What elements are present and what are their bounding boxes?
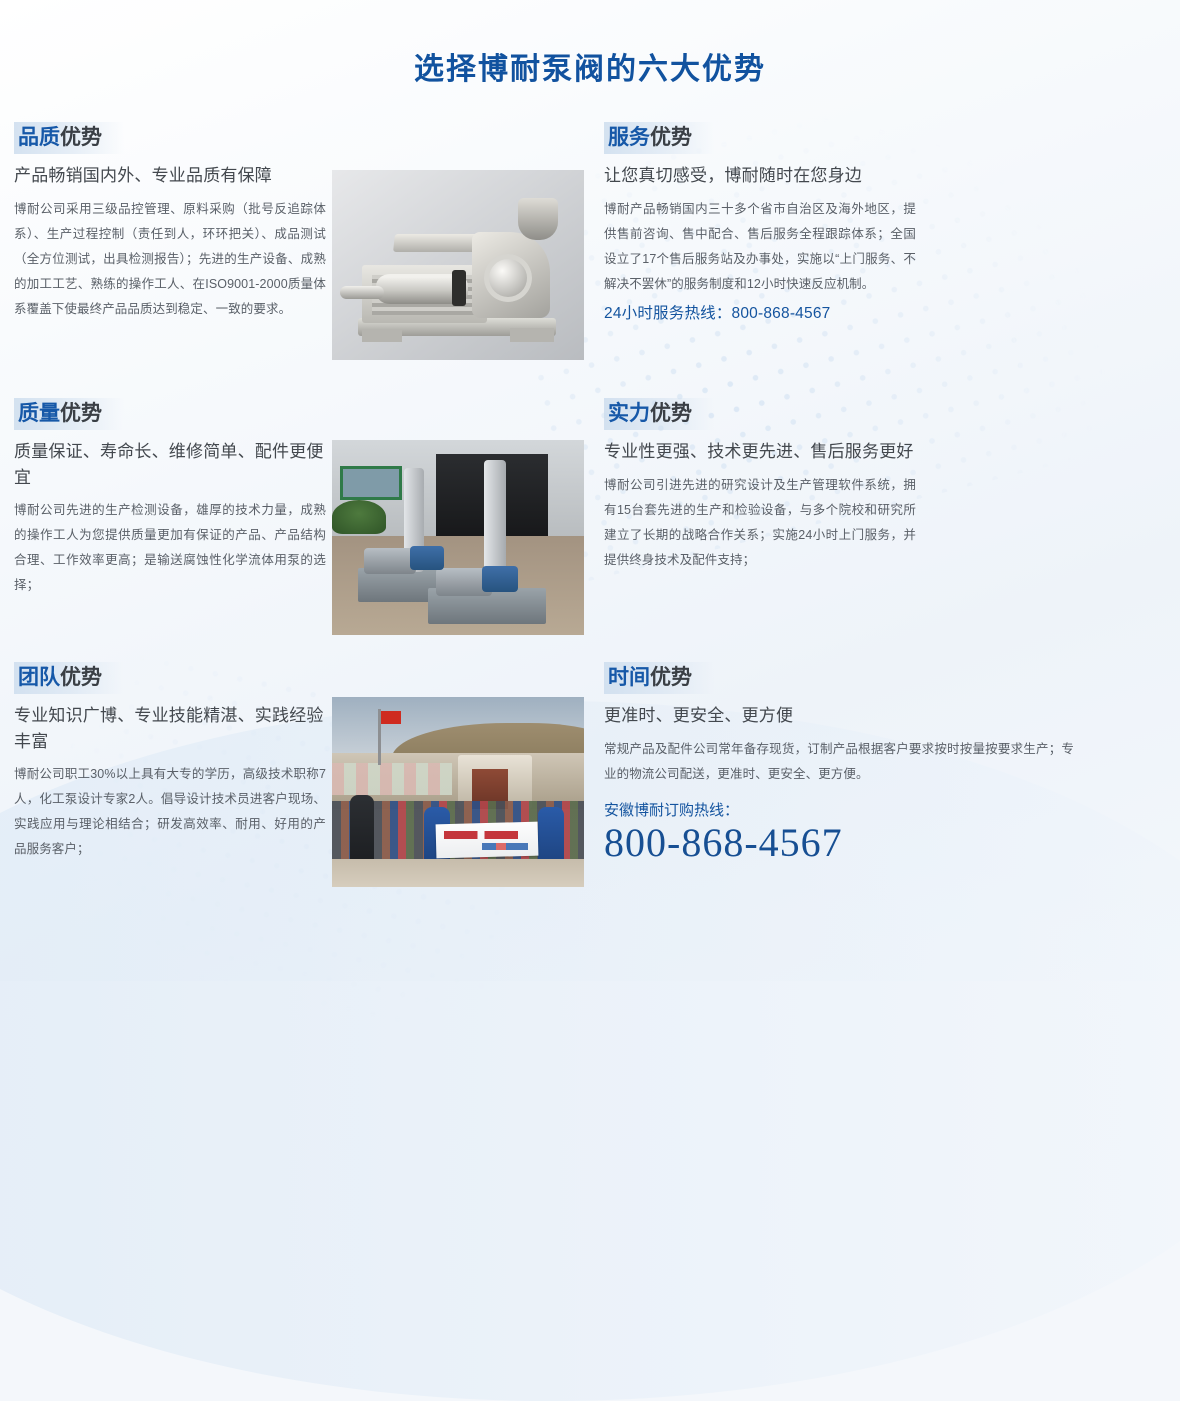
advantage-heading-accent: 品质	[18, 126, 60, 149]
pump-discharge-flange-shape	[518, 198, 558, 240]
staff-member-left-shape	[350, 795, 374, 861]
advantage-heading-team: 团队优势	[14, 662, 124, 694]
pump-left-shape	[364, 548, 416, 574]
advantage-text-time: 时间优势 更准时、更安全、更方便 常规产品及配件公司常年备存现货，订制产品根据客…	[604, 662, 1074, 866]
factory-window-shape	[340, 466, 402, 500]
advantage-lead-quality-grade: 产品畅销国内外、专业品质有保障	[14, 163, 326, 189]
advantage-heading-rest: 优势	[60, 666, 102, 689]
advantage-body-service: 博耐产品畅销国内三十多个省市自治区及海外地区，提供售前咨询、售中配合、售后服务全…	[604, 197, 916, 297]
pump-impeller-shape	[484, 254, 532, 302]
advantage-lead-time: 更准时、更安全、更方便	[604, 703, 1074, 729]
advantage-heading-rest: 优势	[650, 126, 692, 149]
advantage-body-time: 常规产品及配件公司常年备存现货，订制产品根据客户要求按时按量按要求生产；专业的物…	[604, 737, 1074, 787]
advantages-page: 选择博耐泵阀的六大优势 品质优势 产品畅销国内外、专业品质有保障 博耐公司采用三…	[0, 0, 1180, 981]
advantage-lead-service: 让您真切感受，博耐随时在您身边	[604, 163, 916, 189]
dirt-ground-shape	[332, 859, 584, 887]
pump-foot-left-shape	[362, 330, 402, 342]
advantage-lead-product-quality: 质量保证、寿命长、维修简单、配件更便宜	[14, 439, 326, 490]
advantage-heading-accent: 质量	[18, 402, 60, 425]
advantage-heading-quality-grade: 品质优势	[14, 122, 124, 154]
pump-foot-right-shape	[510, 328, 554, 342]
advantage-text-strength: 实力优势 专业性更强、技术更先进、售后服务更好 博耐公司引进先进的研究设计及生产…	[604, 398, 916, 573]
advantage-heading-accent: 团队	[18, 666, 60, 689]
advantage-lead-team: 专业知识广博、专业技能精湛、实践经验丰富	[14, 703, 326, 754]
advantage-heading-service: 服务优势	[604, 122, 714, 154]
advantage-text-service: 服务优势 让您真切感受，博耐随时在您身边 博耐产品畅销国内三十多个省市自治区及海…	[604, 122, 916, 323]
advantage-heading-accent: 实力	[608, 402, 650, 425]
order-hotline-number: 800-868-4567	[604, 820, 1074, 866]
team-charity-group-photo	[332, 697, 584, 887]
national-flag-icon	[381, 711, 401, 724]
shrub-shape	[332, 500, 386, 534]
advantage-text-quality-grade: 品质优势 产品畅销国内外、专业品质有保障 博耐公司采用三级品控管理、原料采购（批…	[14, 122, 326, 322]
advantage-heading-strength: 实力优势	[604, 398, 714, 430]
advantage-heading-accent: 服务	[608, 126, 650, 149]
industrial-pump-cutaway-photo	[332, 170, 584, 360]
advantage-body-quality-grade: 博耐公司采用三级品控管理、原料采购（批号反追踪体系）、生产过程控制（责任到人，环…	[14, 197, 326, 322]
pump-shaft-shape	[340, 286, 384, 299]
advantage-heading-product-quality: 质量优势	[14, 398, 124, 430]
advantage-heading-rest: 优势	[650, 666, 692, 689]
advantage-heading-rest: 优势	[60, 402, 102, 425]
advantage-heading-rest: 优势	[60, 126, 102, 149]
motor-left-shape	[410, 546, 444, 570]
advantage-heading-time: 时间优势	[604, 662, 714, 694]
advantage-text-product-quality: 质量优势 质量保证、寿命长、维修简单、配件更便宜 博耐公司先进的生产检测设备，雄…	[14, 398, 326, 598]
advantage-body-product-quality: 博耐公司先进的生产检测设备，雄厚的技术力量，成熟的操作工人为您提供质量更加有保证…	[14, 498, 326, 598]
charity-banner-text-shape	[444, 831, 532, 839]
charity-banner-shape	[436, 822, 539, 859]
wall-posters-shape	[332, 763, 452, 795]
pump-skids-outside-factory-photo	[332, 440, 584, 635]
page-title: 选择博耐泵阀的六大优势	[0, 0, 1180, 88]
advantage-heading-accent: 时间	[608, 666, 650, 689]
advantage-heading-rest: 优势	[650, 402, 692, 425]
advantage-lead-strength: 专业性更强、技术更先进、售后服务更好	[604, 439, 916, 465]
advantage-body-strength: 博耐公司引进先进的研究设计及生产管理软件系统，拥有15台套先进的生产和检验设备，…	[604, 473, 916, 573]
motor-right-shape	[482, 566, 518, 592]
order-hotline-label: 安徽博耐订购热线：	[604, 799, 1074, 820]
pump-seal-ring-shape	[452, 270, 466, 306]
advantage-body-team: 博耐公司职工30%以上具有大专的学历，高级技术职称7人，化工泵设计专家2人。倡导…	[14, 762, 326, 862]
service-hotline: 24小时服务热线：800-868-4567	[604, 301, 916, 323]
advantage-text-team: 团队优势 专业知识广博、专业技能精湛、实践经验丰富 博耐公司职工30%以上具有大…	[14, 662, 326, 862]
charity-banner-logo-shape	[482, 843, 528, 850]
